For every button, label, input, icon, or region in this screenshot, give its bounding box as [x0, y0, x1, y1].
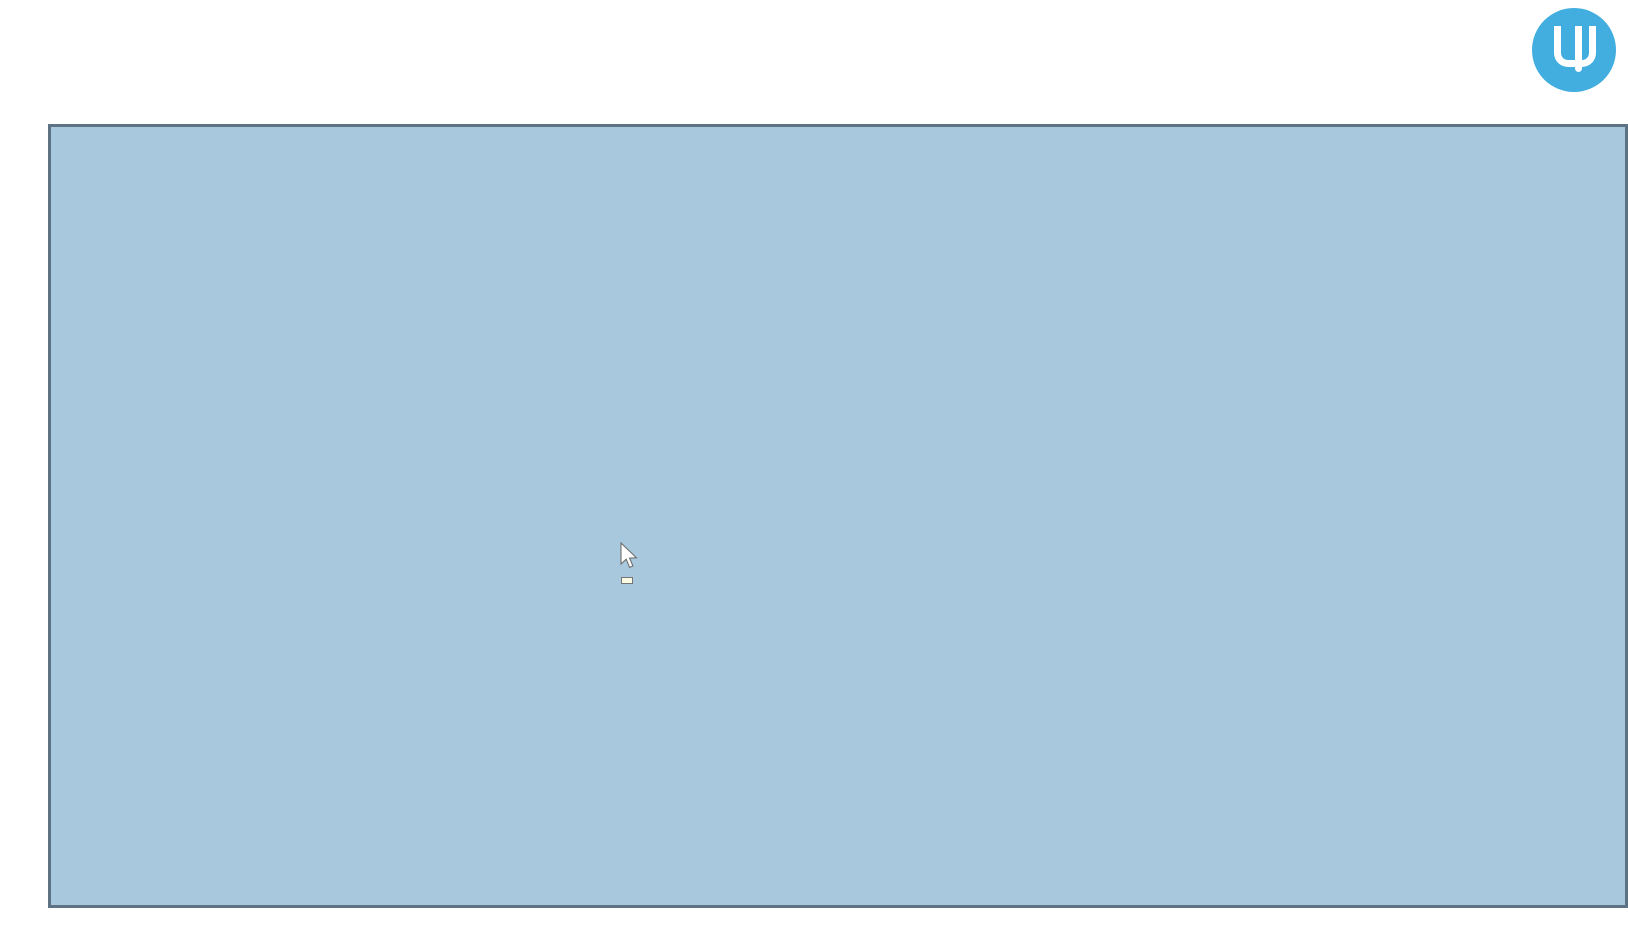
- diagram-panel: [48, 124, 1628, 908]
- brand-block: [1532, 2, 1628, 102]
- circle-y-logo-icon: [1532, 8, 1616, 92]
- page-header: [0, 0, 1628, 124]
- accent-bar: [772, 101, 1628, 124]
- roles-directory-tree-diagram: [51, 127, 1625, 905]
- tooltip: [621, 577, 633, 584]
